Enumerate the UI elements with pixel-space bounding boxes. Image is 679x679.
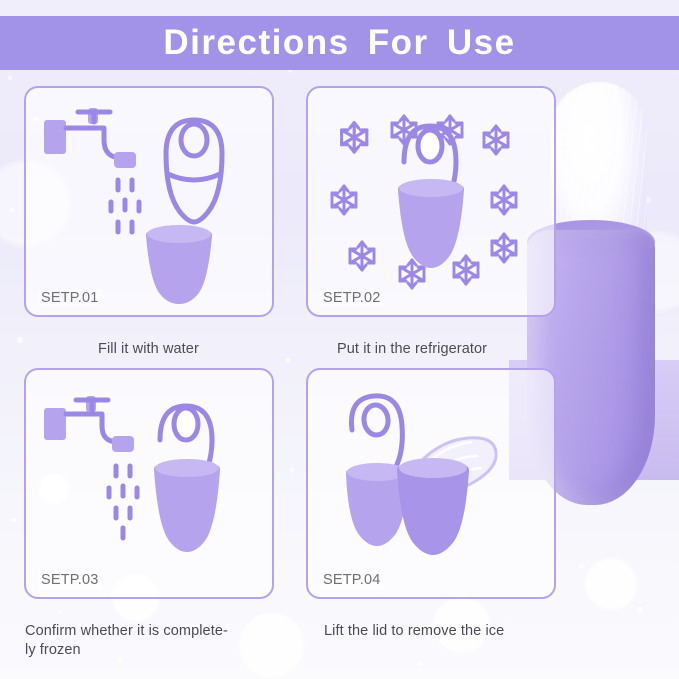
ice-mold-cup-icon bbox=[146, 225, 212, 304]
step-caption-2: Put it in the refrigerator bbox=[337, 340, 567, 359]
step-card-4: SETP.04 bbox=[306, 368, 556, 599]
step-1-illustration bbox=[26, 88, 272, 315]
step-card-3: SETP.03 bbox=[24, 368, 274, 599]
ice-texture bbox=[551, 82, 647, 272]
faucet-icon bbox=[44, 396, 134, 452]
step-badge-3: SETP.03 bbox=[38, 571, 102, 589]
step-caption-1: Fill it with water bbox=[98, 340, 298, 359]
faucet-icon bbox=[44, 108, 136, 168]
step-3-illustration bbox=[26, 370, 272, 597]
step-badge-1: SETP.01 bbox=[38, 289, 102, 307]
ice-mold-assembled-icon bbox=[154, 406, 220, 552]
step-caption-3-line-2: ly frozen bbox=[25, 642, 81, 658]
directions-for-use-infographic: Directions For Use bbox=[0, 0, 679, 679]
step-caption-4: Lift the lid to remove the ice bbox=[324, 622, 584, 641]
step-card-1: SETP.01 bbox=[24, 86, 274, 317]
step-badge-2: SETP.02 bbox=[320, 289, 384, 307]
ice-pop-photo bbox=[551, 82, 647, 272]
step-card-2: SETP.02 bbox=[306, 86, 556, 317]
step-caption-3: Confirm whether it is complete-ly frozen bbox=[25, 622, 295, 660]
page-title: Directions For Use bbox=[0, 16, 679, 70]
step-badge-4: SETP.04 bbox=[320, 571, 384, 589]
step-caption-3-line-1: Confirm whether it is complete- bbox=[25, 623, 228, 639]
step-4-illustration bbox=[308, 370, 554, 597]
step-2-illustration bbox=[308, 88, 554, 315]
ice-mold-assembled-icon bbox=[398, 126, 464, 268]
mold-body-icon bbox=[397, 458, 469, 555]
water-drops-icon bbox=[111, 180, 139, 232]
ice-mold-lid-icon bbox=[166, 120, 222, 222]
water-drops-icon bbox=[109, 466, 137, 538]
